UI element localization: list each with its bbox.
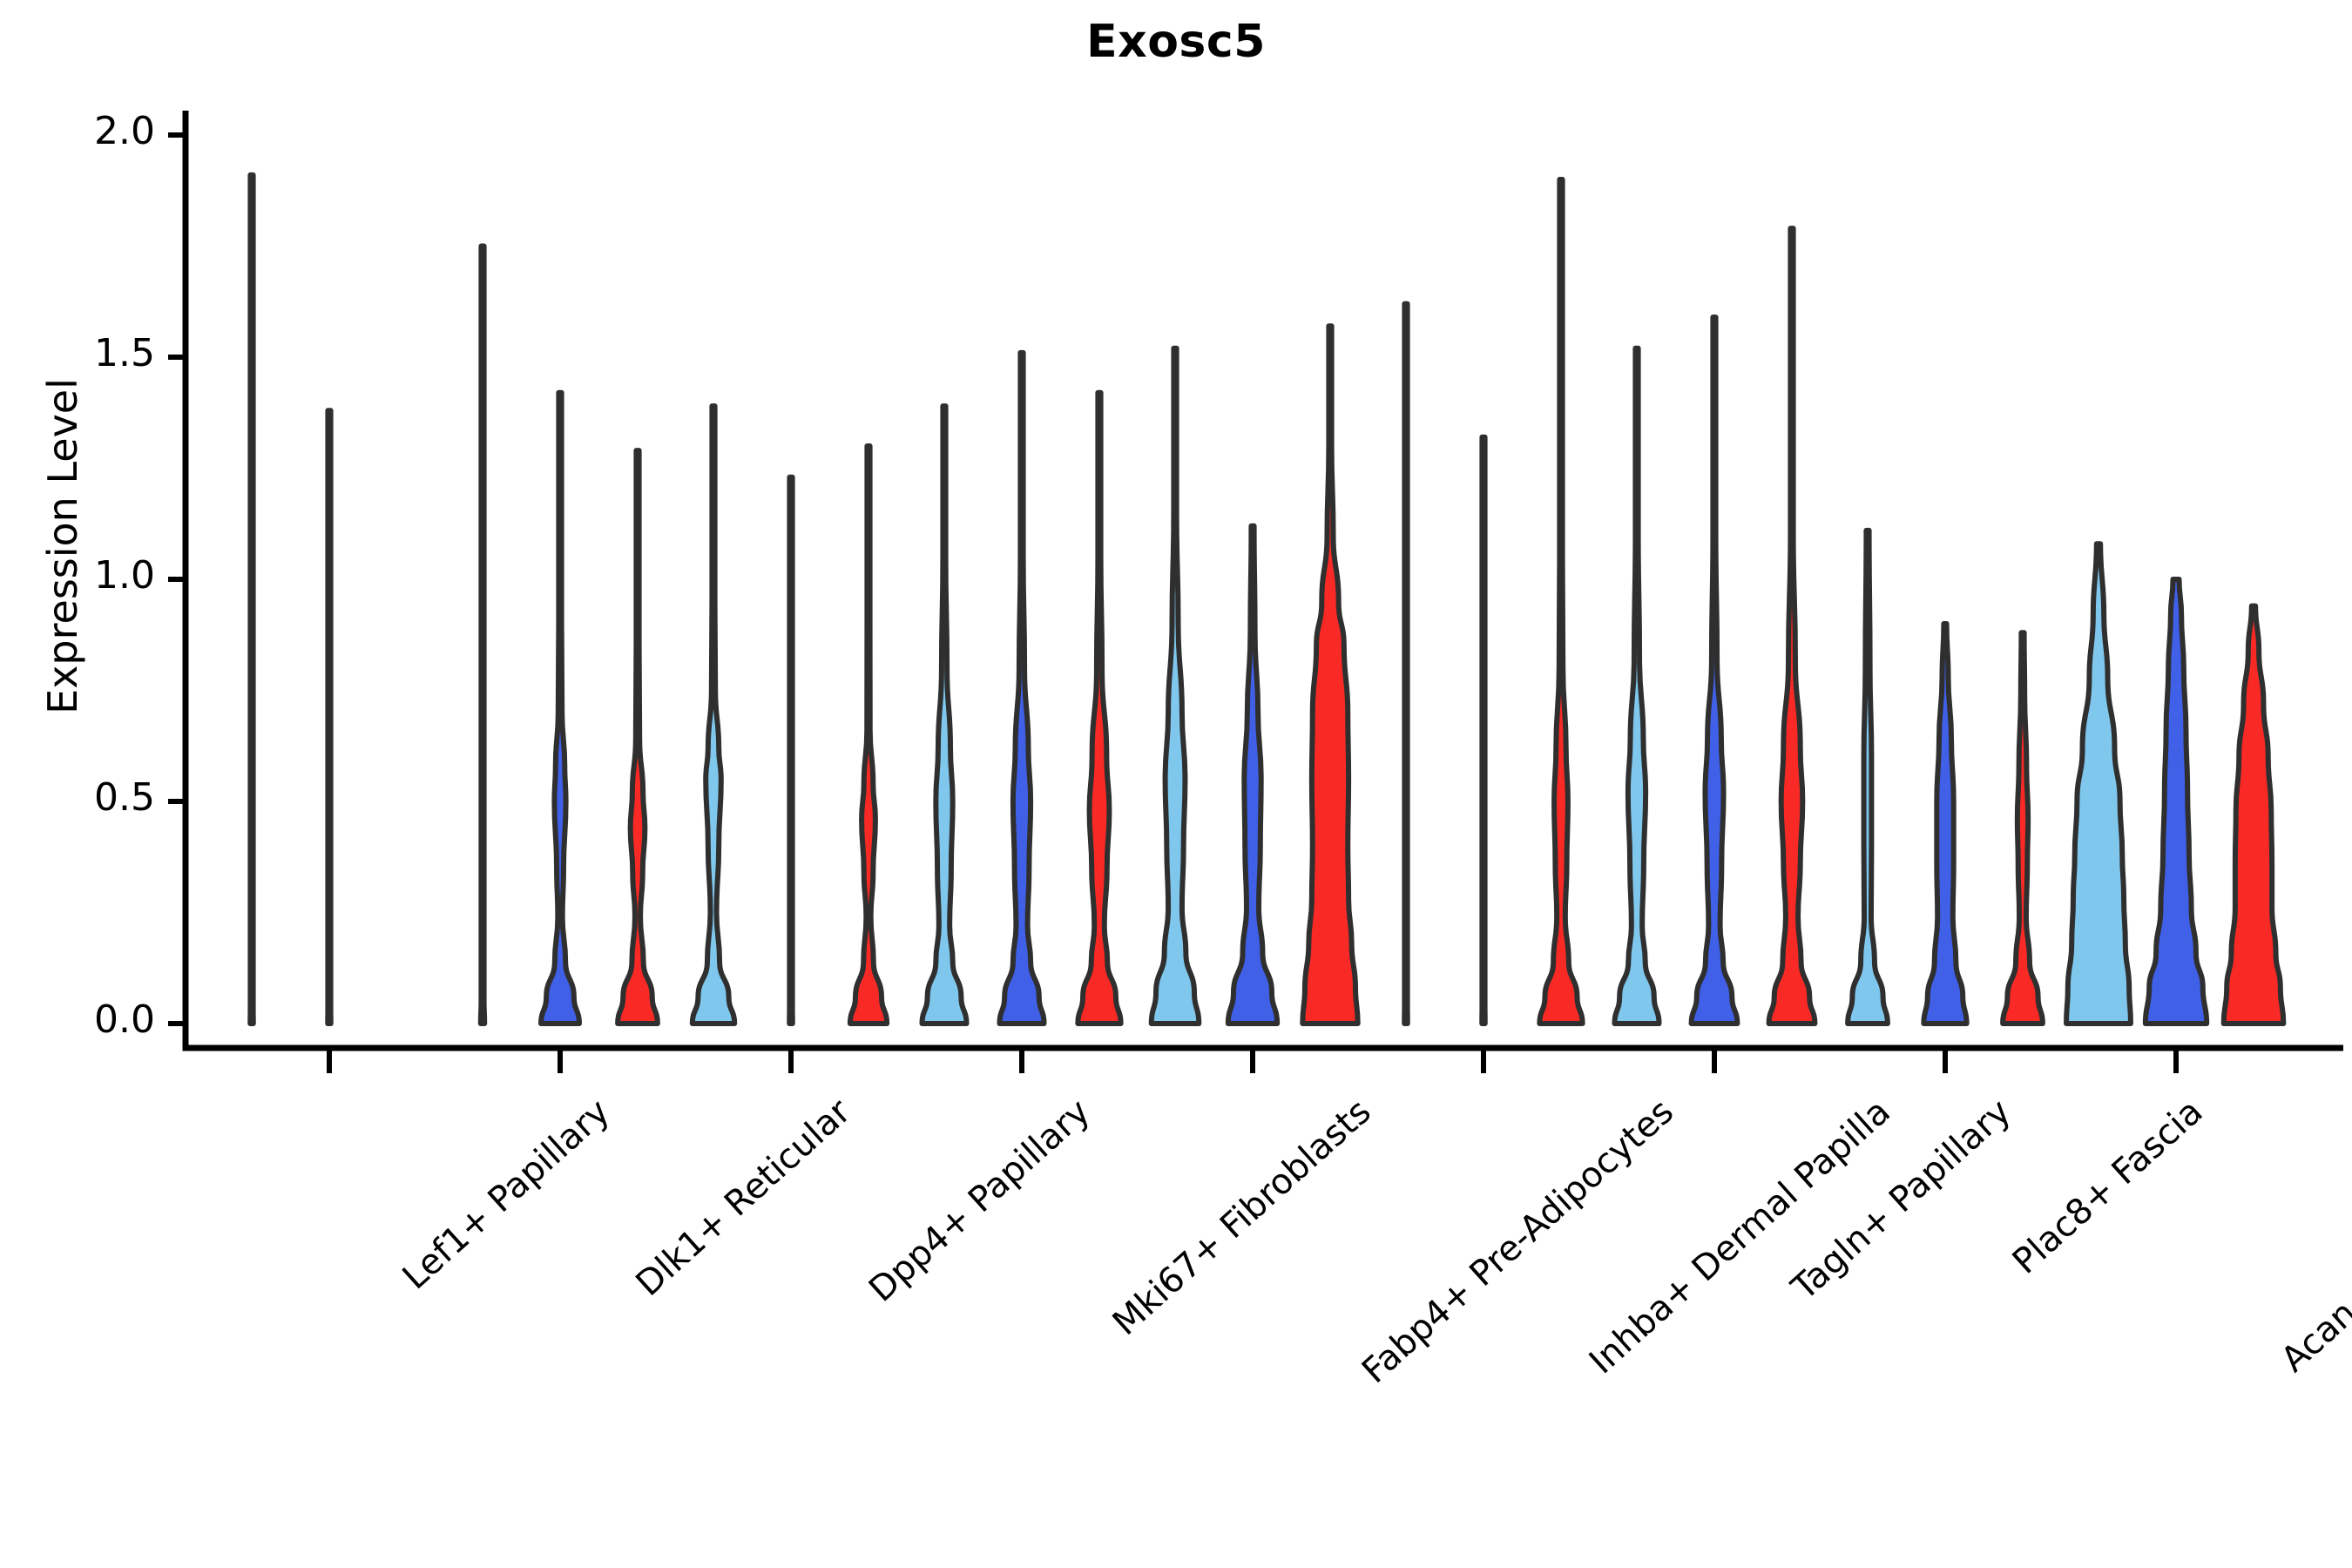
violin-shape[interactable] — [481, 247, 484, 1024]
violin-shape[interactable] — [328, 410, 331, 1024]
violin-shape[interactable] — [1923, 624, 1966, 1024]
violin-shape[interactable] — [2003, 632, 2043, 1024]
violin-shape[interactable] — [1769, 228, 1815, 1024]
violin-shape[interactable] — [1404, 304, 1408, 1024]
violin-shape[interactable] — [2066, 544, 2131, 1024]
plot-canvas — [0, 0, 2352, 1568]
violin-plot-figure: Exosc5 Expression Level 0.00.51.01.52.0 … — [0, 0, 2352, 1568]
violin-shape[interactable] — [1539, 179, 1582, 1024]
violin-shape[interactable] — [541, 393, 579, 1024]
violin-shape[interactable] — [1848, 531, 1888, 1024]
violin-shape[interactable] — [789, 477, 793, 1024]
violin-shape[interactable] — [1692, 317, 1738, 1024]
violin-shape[interactable] — [618, 450, 658, 1024]
violin-shape[interactable] — [999, 353, 1044, 1024]
violin-shape[interactable] — [1302, 326, 1357, 1024]
violin-shape[interactable] — [1482, 437, 1485, 1024]
violin-shape[interactable] — [2146, 579, 2207, 1024]
violin-shape[interactable] — [1614, 348, 1659, 1024]
violin-shape[interactable] — [693, 406, 734, 1024]
violin-shape[interactable] — [250, 175, 253, 1024]
violin-shape[interactable] — [1228, 526, 1277, 1024]
violin-shape[interactable] — [2224, 606, 2284, 1024]
violin-shape[interactable] — [1152, 348, 1200, 1024]
violin-shape[interactable] — [850, 446, 887, 1024]
violin-shape[interactable] — [922, 406, 966, 1024]
violin-shape[interactable] — [1078, 393, 1120, 1024]
